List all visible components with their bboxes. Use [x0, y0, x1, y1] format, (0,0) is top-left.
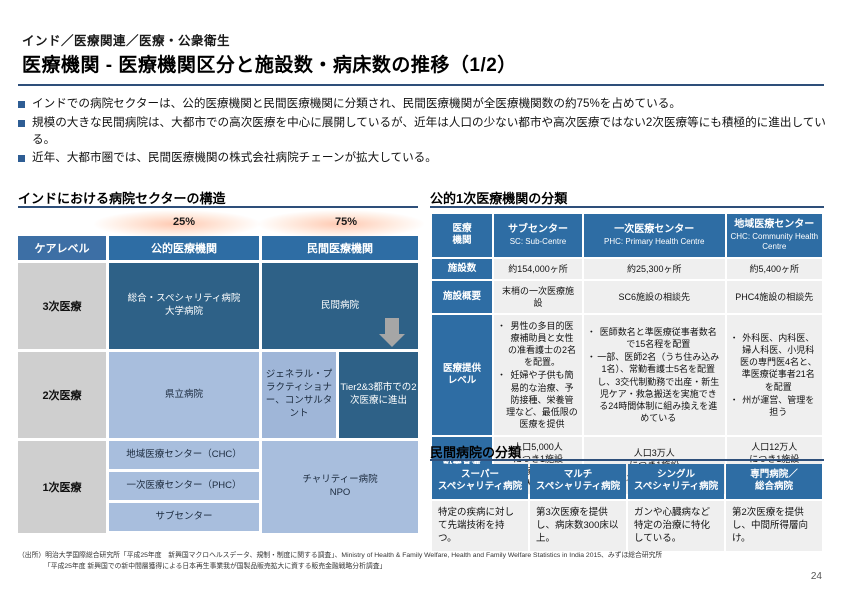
column-header-chc-en: CHC: Community Health Centre — [730, 232, 819, 252]
column-header-sc-en: SC: Sub-Centre — [497, 237, 579, 247]
private-charity-box: チャリティー病院 NPO — [262, 441, 418, 533]
private-secondary-row: ジェネラル・プラクティショナー、コンサルタント Tier2&3都市での2次医療に… — [262, 352, 418, 438]
row-label-facility-overview: 施設概要 — [432, 281, 492, 313]
column-header-sc-jp: サブセンター — [508, 224, 568, 235]
column-header-single-specialty: シングル スペシャリティ病院 — [628, 464, 724, 499]
column-header-phc: 一次医療センター PHC: Primary Health Centre — [584, 214, 725, 257]
column-header-chc-jp: 地域医療センター — [734, 219, 814, 230]
col-header-care-level: ケアレベル — [18, 236, 106, 260]
title-divider — [18, 84, 824, 86]
column-header-specialty-general: 専門病院／ 総合病院 — [726, 464, 822, 499]
private-hospital-table: スーパー スペシャリティ病院 マルチ スペシャリティ病院 シングル スペシャリテ… — [430, 462, 824, 553]
column-header-sc: サブセンター SC: Sub-Centre — [494, 214, 582, 257]
cell-overview-sc: 末梢の一次医療施設 — [494, 281, 582, 313]
row-label-facility-count: 施設数 — [432, 259, 492, 279]
bullet-text: インドでの病院セクターは、公的医療機関と民間医療機関に分類され、民間医療機関が全… — [32, 96, 681, 113]
table-row: 特定の疾病に対して先端技術を持つ。 第3次医療を提供し、病床数300床以上。 ガ… — [432, 501, 822, 551]
cell-service-level-chc: 外科医、内科医、婦人科医、小児科医の専門医4名と、準医療従事者21名を配置 州が… — [727, 315, 822, 435]
bullet-square-icon — [18, 101, 25, 108]
column-header-super-specialty: スーパー スペシャリティ病院 — [432, 464, 528, 499]
source-line-2: 「平成25年度 新興国での新中間層獲得による日本再生事業我が国製品販売拡大に資す… — [44, 562, 828, 573]
care-level-secondary: 2次医療 — [18, 352, 106, 438]
cell-service-level-sc: 男性の多目的医療補助員と女性の准看護士の2名を配置。 妊婦や子供も簡易的な治療、… — [494, 315, 582, 435]
hospital-sector-diagram: 25% 75% ケアレベル 公的医療機関 民間医療機関 3次医療 2次医療 1次… — [18, 212, 418, 533]
care-level-column: 3次医療 2次医療 1次医療 — [18, 263, 106, 533]
bullet-item: インドでの病院セクターは、公的医療機関と民間医療機関に分類され、民間医療機関が全… — [18, 96, 830, 113]
cell-super-specialty: 特定の疾病に対して先端技術を持つ。 — [432, 501, 528, 551]
bullet-square-icon — [18, 155, 25, 162]
public-share-value: 25% — [109, 216, 259, 228]
cell-specialty-general: 第2次医療を提供し、中間所得層向け。 — [726, 501, 822, 551]
cell-service-level-phc: 医師数名と準医療従事者数名で15名程を配置 一部、医師2名（うち住み込み1名）、… — [584, 315, 725, 435]
slide: インド／医療関連／医療・公衆衛生 医療機関 - 医療機関区分と施設数・病床数の推… — [0, 0, 842, 595]
left-section-divider — [18, 206, 418, 208]
diagram-header-row: ケアレベル 公的医療機関 民間医療機関 — [18, 236, 418, 260]
public-secondary-box: 県立病院 — [109, 352, 259, 438]
table-corner-label: 医療 機関 — [432, 214, 492, 257]
public-table-divider — [430, 206, 824, 208]
cell-facility-count-sc: 約154,000ヶ所 — [494, 259, 582, 279]
col-header-private: 民間医療機関 — [262, 236, 418, 260]
bullet-item: 近年、大都市圏では、民間医療機関の株式会社病院チェーンが拡大している。 — [18, 150, 830, 167]
row-label-service-level: 医療提供 レベル — [432, 315, 492, 435]
source-line-1: （出所）明治大学国際総合研究所「平成25年度 新興国マクロヘルスデータ、規制・制… — [18, 551, 828, 562]
bullet-text: 近年、大都市圏では、民間医療機関の株式会社病院チェーンが拡大している。 — [32, 150, 437, 167]
table-row: 施設概要 末梢の一次医療施設 SC6施設の相談先 PHC4施設の相談先 — [432, 281, 822, 313]
private-gp-box: ジェネラル・プラクティショナー、コンサルタント — [262, 352, 336, 438]
list-item: 州が運営、管理を担う — [731, 394, 818, 418]
col-header-public: 公的医療機関 — [109, 236, 259, 260]
bullet-text: 規模の大きな民間病院は、大都市での高次医療を中心に展開しているが、近年は人口の少… — [32, 115, 830, 149]
care-level-tertiary: 3次医療 — [18, 263, 106, 349]
source-footnote: （出所）明治大学国際総合研究所「平成25年度 新興国マクロヘルスデータ、規制・制… — [18, 551, 828, 572]
cell-multi-specialty: 第3次医療を提供し、病床数300床以上。 — [530, 501, 626, 551]
cell-overview-chc: PHC4施設の相談先 — [727, 281, 822, 313]
cell-facility-count-phc: 約25,300ヶ所 — [584, 259, 725, 279]
column-header-phc-jp: 一次医療センター — [614, 224, 694, 235]
list-item: 男性の多目的医療補助員と女性の准看護士の2名を配置。 — [498, 320, 578, 369]
column-header-multi-specialty: マルチ スペシャリティ病院 — [530, 464, 626, 499]
list-item: 妊婦や子供も簡易的な治療、予防接種、栄養管理など、最低限の医療を提供 — [498, 369, 578, 430]
column-header-phc-en: PHC: Primary Health Centre — [587, 237, 722, 247]
list-item: 医師数名と準医療従事者数名で15名程を配置 — [588, 326, 721, 350]
share-row: 25% 75% — [18, 212, 418, 236]
left-section-heading: インドにおける病院セクターの構造 — [18, 188, 225, 207]
cell-facility-count-chc: 約5,400ヶ所 — [727, 259, 822, 279]
table-header-row: 医療 機関 サブセンター SC: Sub-Centre 一次医療センター PHC… — [432, 214, 822, 257]
public-column: 総合・スペシャリティ病院 大学病院 県立病院 地域医療センター（CHC） 一次医… — [109, 263, 259, 533]
private-tier-box: Tier2&3都市での2次医療に進出 — [339, 352, 418, 438]
private-tier-label: Tier2&3都市での2次医療に進出 — [339, 382, 418, 408]
cell-single-specialty: ガンや心臓病など特定の治療に特化している。 — [628, 501, 724, 551]
table-row: 医療提供 レベル 男性の多目的医療補助員と女性の准看護士の2名を配置。 妊婦や子… — [432, 315, 822, 435]
table-header-row: スーパー スペシャリティ病院 マルチ スペシャリティ病院 シングル スペシャリテ… — [432, 464, 822, 499]
public-sc-box: サブセンター — [109, 503, 259, 531]
bullet-square-icon — [18, 120, 25, 127]
page-title: 医療機関 - 医療機関区分と施設数・病床数の推移（1/2） — [22, 50, 517, 77]
diagram-body: 3次医療 2次医療 1次医療 総合・スペシャリティ病院 大学病院 県立病院 地域… — [18, 263, 418, 533]
care-level-primary: 1次医療 — [18, 441, 106, 533]
private-table-divider — [430, 459, 824, 461]
public-phc-box: 一次医療センター（PHC） — [109, 472, 259, 500]
list-item: 一部、医師2名（うち住み込み1名）、常勤看護士5名を配置し、3交代制勤務で出産・… — [588, 351, 721, 424]
list-item: 外科医、内科医、婦人科医、小児科医の専門医4名と、準医療従事者21名を配置 — [731, 332, 818, 393]
public-table-heading: 公的1次医療機関の分類 — [430, 188, 567, 207]
bullet-list: インドでの病院セクターは、公的医療機関と民間医療機関に分類され、民間医療機関が全… — [18, 96, 830, 169]
slide-kicker: インド／医療関連／医療・公衆衛生 — [22, 30, 230, 49]
public-tertiary-box: 総合・スペシャリティ病院 大学病院 — [109, 263, 259, 349]
page-number: 24 — [811, 571, 822, 582]
cell-overview-phc: SC6施設の相談先 — [584, 281, 725, 313]
column-header-chc: 地域医療センター CHC: Community Health Centre — [727, 214, 822, 257]
private-share-value: 75% — [268, 216, 424, 228]
bullet-item: 規模の大きな民間病院は、大都市での高次医療を中心に展開しているが、近年は人口の少… — [18, 115, 830, 149]
public-chc-box: 地域医療センター（CHC） — [109, 441, 259, 469]
table-row: 施設数 約154,000ヶ所 約25,300ヶ所 約5,400ヶ所 — [432, 259, 822, 279]
private-column: 民間病院 ジェネラル・プラクティショナー、コンサルタント Tier2&3都市での… — [262, 263, 418, 533]
